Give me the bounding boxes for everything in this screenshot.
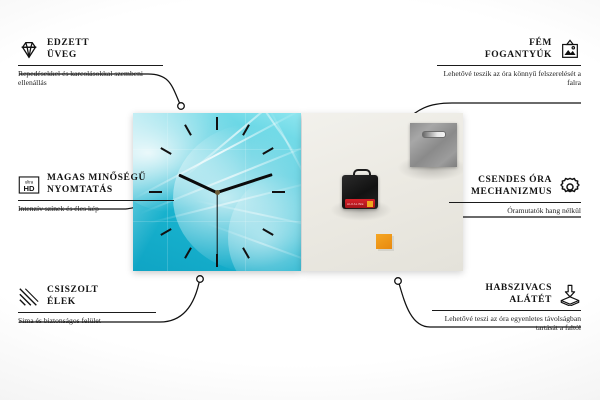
clock-hub bbox=[215, 190, 220, 195]
feature-subtitle: Sima és biztonságos felület bbox=[18, 316, 156, 325]
feature-subtitle: Lehetővé teszik az óra könnyű felszerelé… bbox=[437, 69, 581, 88]
feature-title-line2: ÉLEK bbox=[47, 297, 98, 309]
feature-foam-backing: HABSZIVACS ALÁTÉT Lehetővé teszi az óra … bbox=[432, 283, 581, 333]
gear-icon bbox=[559, 176, 581, 198]
battery: ALKALINE bbox=[345, 199, 375, 208]
hour-marker bbox=[216, 117, 218, 130]
hour-marker bbox=[184, 124, 192, 135]
feature-silent-clock-mechanism: CSENDES ÓRA MECHANIZMUS Óramutatók hang … bbox=[449, 175, 581, 215]
feature-title-line1: HABSZIVACS bbox=[485, 283, 552, 295]
hour-hand bbox=[178, 173, 217, 194]
hour-marker bbox=[216, 254, 218, 267]
feature-title-line2: FOGANTYÚK bbox=[485, 50, 552, 62]
feature-divider bbox=[18, 65, 163, 66]
feature-title-line2: ALÁTÉT bbox=[485, 295, 552, 307]
feature-divider bbox=[449, 202, 581, 203]
ultra-hd-badge-icon: ultra HD bbox=[18, 174, 40, 196]
feature-high-quality-print: ultra HD MAGAS MINŐSÉGŰ NYOMTATÁS Intenz… bbox=[18, 173, 174, 213]
feature-tempered-glass: EDZETT ÜVEG Repedésekkel és karcolásokka… bbox=[18, 38, 163, 88]
foam-pad bbox=[376, 234, 392, 249]
feature-subtitle: Intenzív színek és éles kép bbox=[18, 204, 174, 213]
hour-marker bbox=[262, 228, 273, 236]
feature-metal-handles: FÉM FOGANTYÚK Lehetővé teszik az óra kön… bbox=[437, 38, 581, 88]
feature-title-line1: MAGAS MINŐSÉGŰ bbox=[47, 173, 146, 185]
clock-mechanism: ALKALINE bbox=[342, 169, 378, 209]
feature-subtitle: Lehetővé teszi az óra egyenletes távolsá… bbox=[432, 314, 581, 333]
hanger-slot bbox=[422, 131, 446, 138]
svg-text:HD: HD bbox=[24, 183, 35, 192]
second-hand bbox=[216, 193, 217, 255]
feature-title-line2: NYOMTATÁS bbox=[47, 185, 146, 197]
feature-polished-edges: CSISZOLT ÉLEK Sima és biztonságos felüle… bbox=[18, 285, 156, 325]
hour-marker bbox=[160, 147, 171, 155]
infographic-canvas: ALKALINE EDZETT ÜVEG Repedésekkel és kar… bbox=[0, 0, 600, 400]
hatch-lines-icon bbox=[18, 286, 40, 308]
feature-subtitle: Óramutatók hang nélkül bbox=[449, 206, 581, 215]
minute-hand bbox=[217, 174, 273, 195]
framed-picture-hanging-icon bbox=[559, 39, 581, 61]
feature-title-line2: ÜVEG bbox=[47, 50, 89, 62]
feature-title-line1: EDZETT bbox=[47, 38, 89, 50]
foam-pad-press-icon bbox=[559, 284, 581, 306]
feature-title-line1: CSENDES ÓRA bbox=[471, 175, 552, 187]
hour-marker bbox=[242, 124, 250, 135]
feature-divider bbox=[18, 200, 174, 201]
hour-marker bbox=[160, 228, 171, 236]
clock-back-panel: ALKALINE bbox=[302, 113, 463, 271]
battery-label: ALKALINE bbox=[347, 202, 364, 206]
hour-marker bbox=[242, 247, 250, 258]
hour-marker bbox=[184, 247, 192, 258]
feature-divider bbox=[437, 65, 581, 66]
feature-title-line2: MECHANIZMUS bbox=[471, 187, 552, 199]
metal-hanger-plate bbox=[410, 123, 457, 167]
feature-divider bbox=[18, 312, 156, 313]
feature-divider bbox=[432, 310, 581, 311]
hour-marker bbox=[262, 147, 273, 155]
battery-plus-terminal bbox=[367, 201, 373, 207]
mechanism-housing: ALKALINE bbox=[342, 175, 378, 209]
diamond-icon bbox=[18, 39, 40, 61]
feature-title-line1: CSISZOLT bbox=[47, 285, 98, 297]
feature-title-line1: FÉM bbox=[485, 38, 552, 50]
hour-marker bbox=[272, 191, 285, 193]
feature-subtitle: Repedésekkel és karcolásokkal szembeni e… bbox=[18, 69, 163, 88]
